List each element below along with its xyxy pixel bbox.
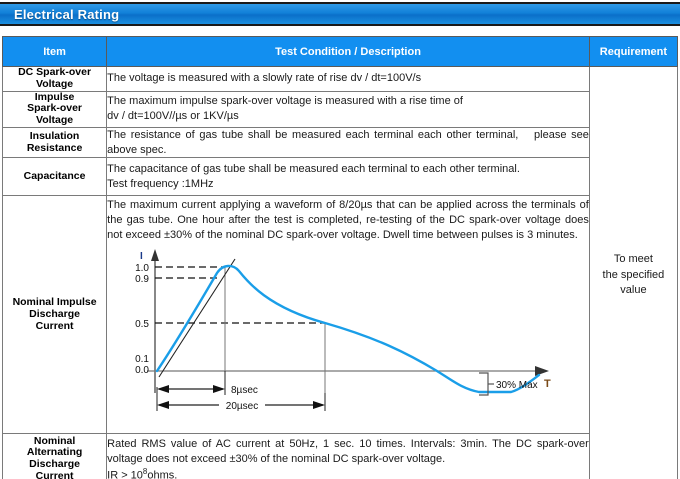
- item-line: Resistance: [3, 143, 106, 155]
- x-axis-label: T: [544, 378, 551, 390]
- chart-svg: I T: [107, 245, 569, 417]
- item-line: Insulation: [3, 131, 106, 143]
- dimension-label-8us: 8µsec: [231, 385, 258, 396]
- table-row: Nominal Alternating Discharge Current Ra…: [3, 434, 678, 479]
- electrical-rating-table: Item Test Condition / Description Requir…: [2, 36, 678, 479]
- drop-lines: [225, 267, 325, 393]
- tangent-line: [159, 259, 235, 377]
- impulse-waveform-chart: I T: [107, 245, 589, 420]
- y-tick-label: 0.0: [135, 365, 149, 376]
- item-line: DC Spark-over: [3, 67, 106, 79]
- requirement-line: value: [590, 283, 677, 298]
- row-item-label: DC Spark-over Voltage: [3, 67, 107, 92]
- column-header-item: Item: [3, 37, 107, 67]
- row-condition-text: The maximum current applying a waveform …: [107, 196, 590, 434]
- row-condition-text: The capacitance of gas tube shall be mea…: [107, 158, 590, 196]
- condition-line: The capacitance of gas tube shall be mea…: [107, 162, 589, 177]
- y-tick-label: 0.1: [135, 354, 149, 365]
- condition-line: dv / dt=100V//µs or 1KV/µs: [107, 109, 589, 124]
- item-line: Voltage: [3, 79, 106, 91]
- y-tick-label: 0.5: [135, 319, 149, 330]
- row-item-label: Impulse Spark-over Voltage: [3, 91, 107, 127]
- condition-line: IR > 108ohms.: [107, 467, 589, 479]
- dimension-8us: 8µsec: [157, 371, 258, 400]
- y-tick-label: 0.9: [135, 274, 149, 285]
- row-item-label: Capacitance: [3, 158, 107, 196]
- row-item-label: Nominal Alternating Discharge Current: [3, 434, 107, 479]
- condition-line: Rated RMS value of AC current at 50Hz, 1…: [107, 434, 589, 467]
- column-header-requirement: Requirement: [589, 37, 677, 67]
- requirement-line: To meet: [590, 252, 677, 267]
- condition-line: The resistance of gas tube shall be meas…: [107, 128, 589, 158]
- exponent: 8: [143, 467, 147, 476]
- dimension-label-20us: 20µsec: [226, 401, 258, 412]
- table-row: DC Spark-over Voltage The voltage is mea…: [3, 67, 678, 92]
- undershoot-label: 30% Max: [496, 380, 538, 391]
- table-row: Insulation Resistance The resistance of …: [3, 127, 678, 158]
- item-line: Current: [3, 321, 106, 333]
- table-header-row: Item Test Condition / Description Requir…: [3, 37, 678, 67]
- item-line: Capacitance: [3, 171, 106, 183]
- x-axis: [147, 366, 549, 376]
- column-header-condition: Test Condition / Description: [107, 37, 590, 67]
- row-condition-text: The maximum impulse spark-over voltage i…: [107, 91, 590, 127]
- section-title: Electrical Rating: [0, 7, 119, 22]
- y-axis-label: I: [140, 251, 143, 262]
- requirement-line: the specified: [590, 268, 677, 283]
- row-condition-text: Rated RMS value of AC current at 50Hz, 1…: [107, 434, 590, 479]
- condition-line: Test frequency :1MHz: [107, 177, 589, 192]
- row-condition-text: The voltage is measured with a slowly ra…: [107, 67, 590, 92]
- row-item-label: Nominal Impulse Discharge Current: [3, 196, 107, 434]
- table-row: Capacitance The capacitance of gas tube …: [3, 158, 678, 196]
- condition-line: The maximum impulse spark-over voltage i…: [107, 94, 589, 109]
- condition-line: The voltage is measured with a slowly ra…: [107, 71, 589, 86]
- section-title-bar: Electrical Rating: [0, 2, 680, 26]
- y-tick-label: 1.0: [135, 263, 149, 274]
- row-item-label: Insulation Resistance: [3, 127, 107, 158]
- item-line: Voltage: [3, 115, 106, 127]
- datasheet-page: Electrical Rating Item Test Condition / …: [0, 0, 680, 479]
- table-row: Impulse Spark-over Voltage The maximum i…: [3, 91, 678, 127]
- item-line: Current: [3, 471, 106, 479]
- y-tick-labels: 1.0 0.9 0.5 0.1 0.0: [135, 263, 149, 376]
- condition-line: The maximum current applying a waveform …: [107, 196, 589, 243]
- requirement-cell: To meet the specified value: [589, 67, 677, 479]
- table-row: Nominal Impulse Discharge Current The ma…: [3, 196, 678, 434]
- row-condition-text: The resistance of gas tube shall be meas…: [107, 127, 590, 158]
